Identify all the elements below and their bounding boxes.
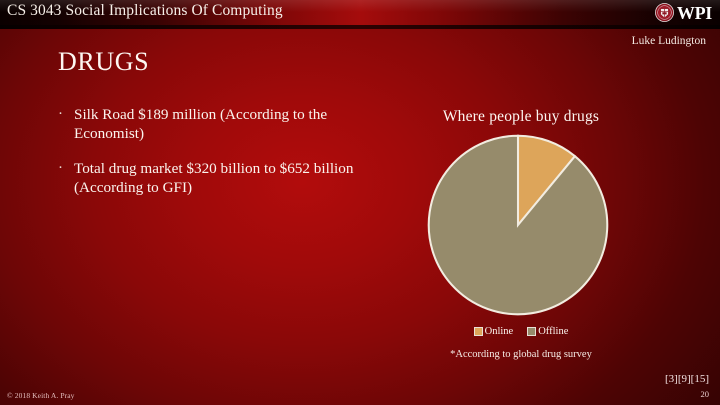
legend-label-online: Online: [485, 326, 514, 337]
pie-chart: [396, 132, 646, 322]
slide-header-bar: CS 3043 Social Implications Of Computing…: [0, 0, 720, 25]
pie-slice-offline: [429, 136, 608, 315]
list-item: · Total drug market $320 billion to $652…: [56, 159, 366, 198]
legend-item-online: Online: [474, 326, 514, 337]
legend-swatch-online: [474, 327, 483, 336]
wpi-logo-text: WPI: [677, 4, 712, 22]
legend-item-offline: Offline: [527, 326, 568, 337]
list-item: · Silk Road $189 million (According to t…: [56, 105, 366, 144]
legend-swatch-offline: [527, 327, 536, 336]
copyright-notice: © 2018 Keith A. Pray: [7, 391, 75, 400]
citation-references: [3][9][15]: [665, 373, 709, 385]
header-underline: [0, 25, 720, 29]
chart-title: Where people buy drugs: [396, 108, 646, 126]
bullet-marker-icon: ·: [58, 105, 63, 124]
list-item-text: Silk Road $189 million (According to the…: [74, 106, 327, 142]
bullet-marker-icon: ·: [58, 159, 63, 178]
presentation-slide: CS 3043 Social Implications Of Computing…: [0, 0, 720, 405]
page-title: DRUGS: [58, 48, 149, 77]
bullet-list: · Silk Road $189 million (According to t…: [56, 105, 366, 198]
page-number: 20: [701, 389, 710, 399]
list-item-text: Total drug market $320 billion to $652 b…: [74, 160, 353, 196]
wpi-logo: WPI: [655, 1, 712, 24]
chart-footnote: *According to global drug survey: [396, 349, 646, 360]
chart-container: Where people buy drugs Online Offline *A…: [396, 108, 646, 360]
pie-chart-svg: [425, 132, 611, 318]
wpi-seal-icon: [655, 3, 674, 22]
chart-legend: Online Offline: [396, 326, 646, 337]
author-name: Luke Ludington: [632, 35, 706, 47]
pie-slices: [429, 136, 608, 315]
course-title: CS 3043 Social Implications Of Computing: [7, 2, 283, 20]
legend-label-offline: Offline: [538, 326, 568, 337]
